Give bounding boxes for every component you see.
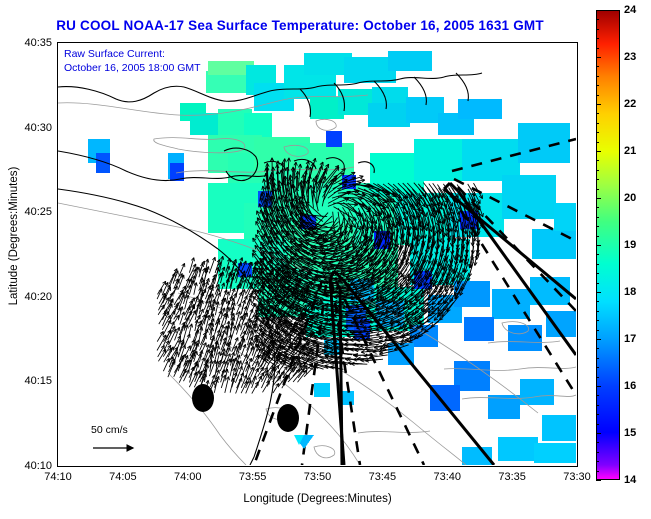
colorbar-minor-tick [596,377,599,378]
colorbar-minor-tick [596,76,599,77]
page-title: RU COOL NOAA-17 Sea Surface Temperature:… [0,18,600,33]
colorbar-minor-tick [596,292,599,293]
colorbar-minor-tick [596,367,599,368]
colorbar-minor-tick [596,151,599,152]
colorbar-minor-tick [596,395,599,396]
colorbar-minor-tick [596,66,599,67]
colorbar-tick-23: 23 [624,51,636,63]
y-axis-label: Latitude (Degrees:Minutes) [8,136,20,336]
colorbar-tick-24: 24 [624,4,636,16]
map-plot-area: Raw Surface Current: October 16, 2005 18… [57,42,578,467]
colorbar-minor-tick [596,104,599,105]
colorbar-tick-15: 15 [624,427,636,439]
colorbar-minor-tick [596,217,599,218]
colorbar-minor-tick [596,442,599,443]
colorbar-minor-tick [596,301,599,302]
map-canvas [58,43,576,465]
colorbar-tick-19: 19 [624,239,636,251]
colorbar-tick-16: 16 [624,380,636,392]
surface-current-annotation: Raw Surface Current: October 16, 2005 18… [64,47,201,75]
x-tick-73-50: 73:50 [304,471,332,483]
colorbar-tick-21: 21 [624,145,636,157]
colorbar-minor-tick [596,433,599,434]
annotation-line-2: October 16, 2005 18:00 GMT [64,61,201,75]
colorbar-minor-tick [596,320,599,321]
colorbar-minor-tick [596,424,599,425]
colorbar-minor-tick [596,245,599,246]
colorbar-minor-tick [596,179,599,180]
colorbar-minor-tick [596,113,599,114]
colorbar-minor-tick [596,471,599,472]
x-axis-label: Longitude (Degrees:Minutes) [57,493,578,505]
y-tick-40-10: 40:10 [4,460,52,472]
x-tick-73-55: 73:55 [239,471,267,483]
y-tick-40-30: 40:30 [4,122,52,134]
colorbar-minor-tick [596,283,599,284]
colorbar-tick-17: 17 [624,333,636,345]
colorbar-tick-14: 14 [624,474,636,486]
x-tick-73-35: 73:35 [498,471,526,483]
radar-station-markers [192,384,299,432]
colorbar-minor-tick [596,160,599,161]
colorbar-tick-22: 22 [624,98,636,110]
colorbar-minor-tick [596,85,599,86]
colorbar-minor-tick [596,132,599,133]
colorbar-minor-tick [596,405,599,406]
colorbar-minor-tick [596,461,599,462]
x-tick-74-10: 74:10 [44,471,72,483]
colorbar-minor-tick [596,311,599,312]
colorbar-minor-tick [596,19,599,20]
x-tick-73-30: 73:30 [563,471,591,483]
x-tick-74-05: 74:05 [109,471,137,483]
colorbar-minor-tick [596,38,599,39]
colorbar-minor-tick [596,198,599,199]
x-tick-74-00: 74:00 [174,471,202,483]
colorbar-minor-tick [596,95,599,96]
colorbar-minor-tick [596,264,599,265]
colorbar-minor-tick [596,273,599,274]
colorbar-minor-tick [596,142,599,143]
colorbar-minor-tick [596,386,599,387]
colorbar-minor-tick [596,330,599,331]
y-tick-40-35: 40:35 [4,37,52,49]
colorbar-minor-tick [596,207,599,208]
colorbar-minor-tick [596,236,599,237]
colorbar-minor-tick [596,480,599,481]
scale-key-arrow-icon [61,424,157,460]
colorbar-minor-tick [596,414,599,415]
colorbar-tick-18: 18 [624,286,636,298]
colorbar-minor-tick [596,170,599,171]
radar-station-marker-west [192,384,214,412]
colorbar-minor-tick [596,10,599,11]
colorbar-minor-tick [596,348,599,349]
colorbar-minor-tick [596,123,599,124]
x-tick-73-40: 73:40 [433,471,461,483]
colorbar-tick-20: 20 [624,192,636,204]
vector-scale-key: 50 cm/s [61,424,157,460]
x-tick-73-45: 73:45 [369,471,397,483]
colorbar-minor-tick [596,189,599,190]
colorbar-minor-tick [596,339,599,340]
annotation-line-1: Raw Surface Current: [64,47,201,61]
colorbar-minor-tick [596,48,599,49]
colorbar-minor-tick [596,29,599,30]
colorbar-minor-tick [596,358,599,359]
colorbar-minor-tick [596,226,599,227]
radar-station-marker-east [277,404,299,432]
colorbar-minor-tick [596,254,599,255]
small-sst-pixel-near-station [294,435,314,449]
colorbar-minor-tick [596,452,599,453]
y-tick-40-15: 40:15 [4,375,52,387]
colorbar-minor-tick [596,57,599,58]
